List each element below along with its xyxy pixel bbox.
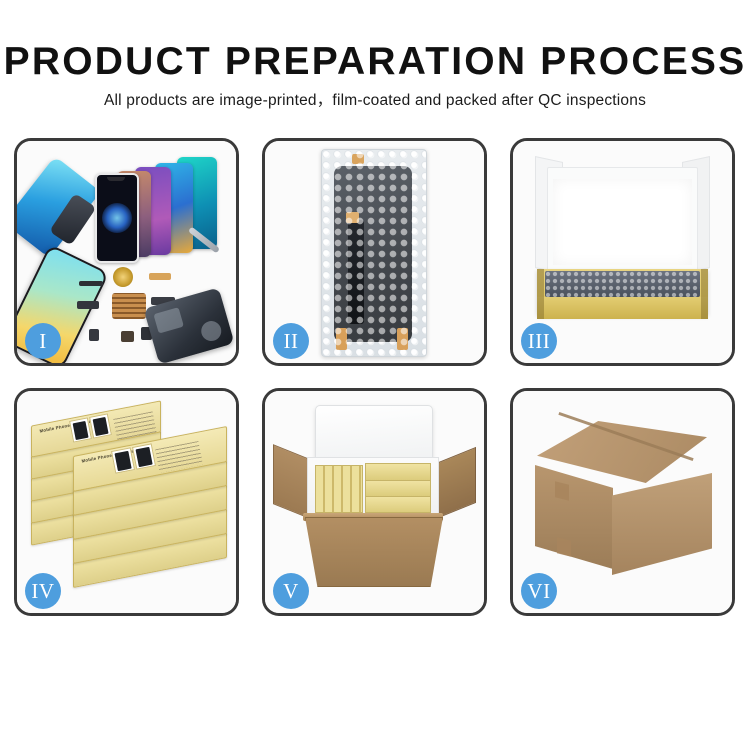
bubble-wrapped-contents-icon	[545, 271, 700, 297]
process-step-card-4[interactable]: Mobile Phone Spare Parts Mobile Phone Sp…	[14, 388, 239, 616]
box-window-icon	[111, 447, 135, 473]
boxes-stack-side-icon	[315, 465, 363, 513]
box-edge-right-icon	[701, 269, 708, 319]
carton-right-face-icon	[612, 473, 712, 575]
step-badge-5: V	[273, 573, 309, 609]
box-window-icon	[132, 443, 156, 469]
page-title: PRODUCT PREPARATION PROCESS	[0, 42, 750, 81]
retail-box-stack-icon: Mobile Phone Spare Parts Mobile Phone Sp…	[27, 407, 227, 597]
bubble-texture-icon	[322, 150, 426, 356]
process-step-card-6[interactable]: VI	[510, 388, 735, 616]
small-part-icon	[89, 329, 99, 341]
screw-tray-icon	[112, 293, 146, 319]
carton-body-icon	[305, 517, 443, 587]
box-window-icon	[89, 413, 112, 438]
gold-connector-icon	[149, 273, 171, 280]
box-row-icon	[365, 463, 431, 481]
battery-connector-icon	[121, 331, 134, 342]
step-badge-6: VI	[521, 573, 557, 609]
bubble-wrap-bag-icon	[321, 149, 427, 357]
speaker-coil-icon	[113, 267, 133, 287]
process-step-card-1[interactable]: I	[14, 138, 239, 366]
box-row-icon	[365, 480, 431, 497]
step-badge-4: IV	[25, 573, 61, 609]
box-edge-left-icon	[537, 269, 544, 319]
step-badge-3: III	[521, 323, 557, 359]
page-subtitle: All products are image-printed，film-coat…	[0, 88, 750, 110]
process-row-bottom: Mobile Phone Spare Parts Mobile Phone Sp…	[14, 388, 736, 616]
foam-sheet-icon	[553, 179, 692, 265]
box-front-panel-icon	[537, 297, 708, 319]
step-badge-2: II	[273, 323, 309, 359]
carton-left-face-icon	[535, 465, 613, 569]
carton-tape-icon	[557, 537, 571, 556]
box-row-icon	[365, 496, 431, 513]
flex-cable-icon	[79, 281, 103, 286]
button-flex-icon	[77, 301, 99, 309]
phone-notch-icon	[107, 177, 125, 181]
phone-dark-icon	[95, 173, 139, 263]
process-step-card-3[interactable]: III	[510, 138, 735, 366]
process-step-card-5[interactable]: V	[262, 388, 487, 616]
packed-boxes-icon	[315, 463, 429, 513]
step-badge-1: I	[25, 323, 61, 359]
process-grid: I II	[14, 138, 736, 638]
process-row-top: I II	[14, 138, 736, 366]
carton-tape-icon	[555, 481, 569, 500]
box-window-icon	[69, 417, 92, 442]
product-preparation-infographic: PRODUCT PREPARATION PROCESS All products…	[0, 0, 750, 750]
blue-phone-back-icon	[17, 156, 101, 258]
process-step-card-2[interactable]: II	[262, 138, 487, 366]
